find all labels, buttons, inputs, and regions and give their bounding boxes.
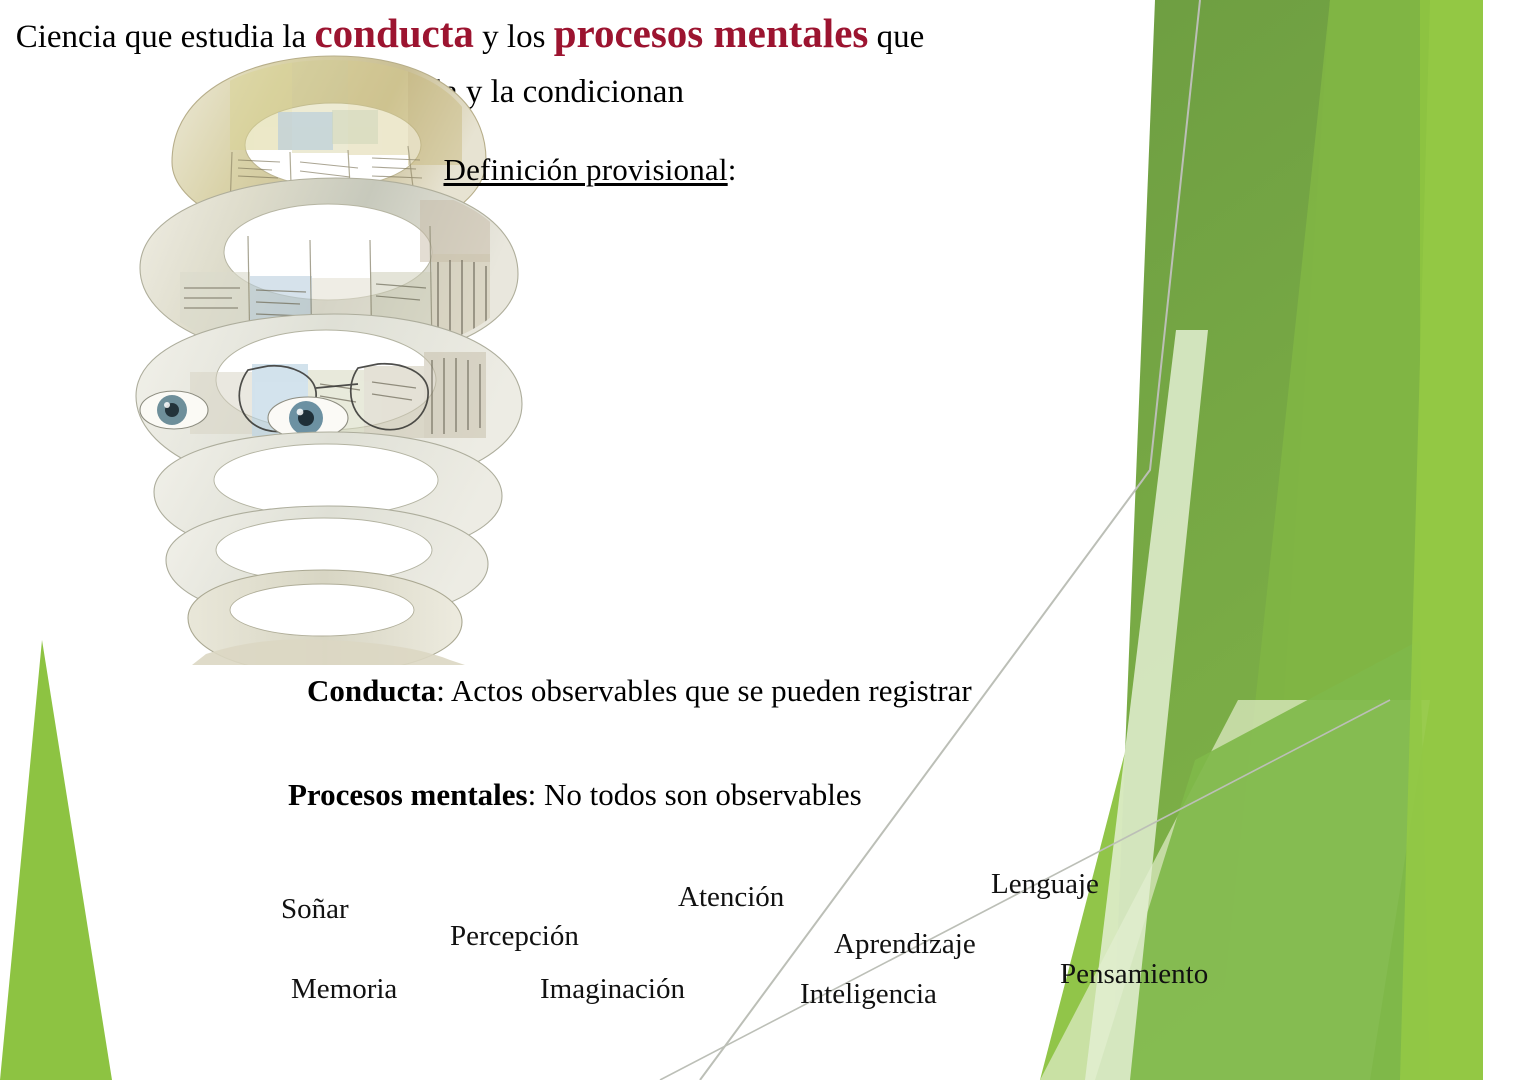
conducta-definition-line: Conducta: Actos observables que se puede… xyxy=(307,673,972,709)
green-wedge-left xyxy=(0,640,112,1080)
presentation-slide: Definición provisional: Ciencia que estu… xyxy=(0,0,1527,1080)
slide-title-underlined: Definición provisional xyxy=(443,152,727,187)
procesos-label: Procesos mentales xyxy=(288,777,528,812)
word-cloud-item: Atención xyxy=(678,881,784,914)
green-triangle-bottom xyxy=(1095,640,1430,1080)
mid-green-wedge xyxy=(1215,0,1420,1080)
definition-keyword-procesos-mentales: procesos mentales xyxy=(554,10,869,56)
conducta-text: Actos observables que se pueden registra… xyxy=(451,673,972,708)
procesos-text: No todos son observables xyxy=(544,777,862,812)
procesos-separator: : xyxy=(528,777,544,812)
word-cloud-item: Inteligencia xyxy=(800,978,937,1011)
bright-green-sliver xyxy=(1400,0,1483,1080)
word-cloud-item: Lenguaje xyxy=(991,868,1099,901)
procesos-mentales-definition-line: Procesos mentales: No todos son observab… xyxy=(288,777,862,813)
slide-title-colon: : xyxy=(728,152,737,187)
word-cloud-item: Soñar xyxy=(281,893,349,926)
word-cloud-item: Memoria xyxy=(291,973,397,1006)
eye-left xyxy=(140,391,208,429)
word-cloud-item: Pensamiento xyxy=(1060,958,1208,991)
word-cloud-item: Aprendizaje xyxy=(834,928,976,961)
word-cloud-item: Percepción xyxy=(450,920,579,953)
head-ribbon-lower-coils xyxy=(154,432,502,665)
word-cloud-item: Imaginación xyxy=(540,973,685,1006)
conducta-separator: : xyxy=(436,673,451,708)
conducta-label: Conducta xyxy=(307,673,436,708)
spiral-ribbon-head-image xyxy=(120,40,565,665)
slide-title: Definición provisional: xyxy=(0,152,1180,188)
